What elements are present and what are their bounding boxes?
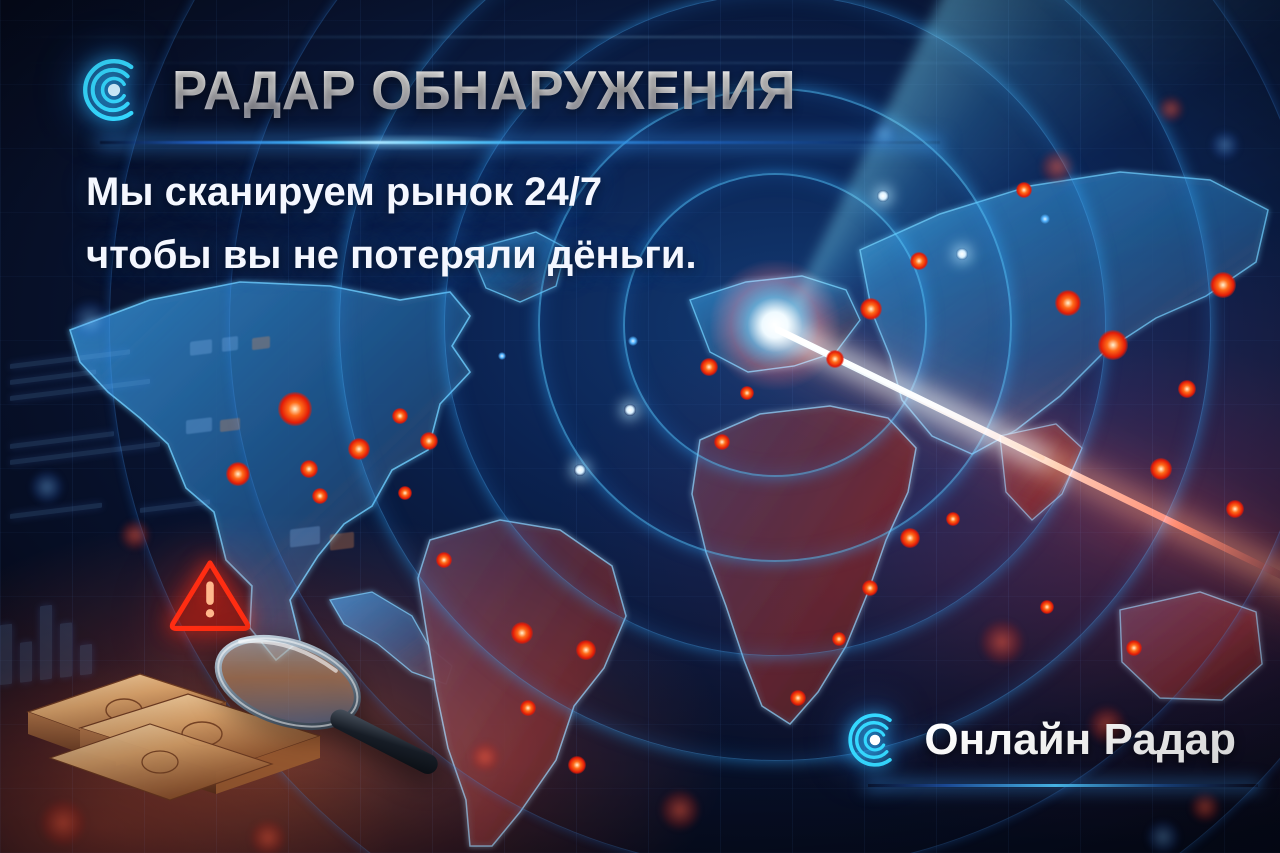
vignette-overlay (0, 0, 1280, 853)
poster-canvas: РАДАР ОБНАРУЖЕНИЯ Мы сканируем рынок 24/… (0, 0, 1280, 853)
